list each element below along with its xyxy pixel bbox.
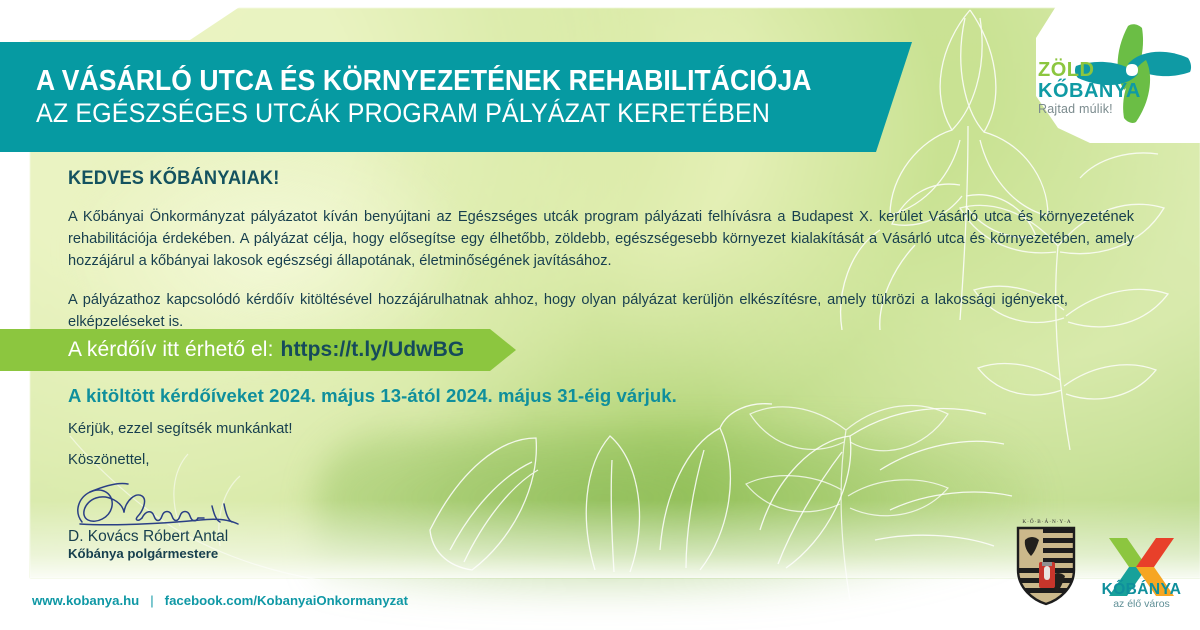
closing-salutation: Köszönettel, — [68, 452, 149, 468]
poster-canvas: A VÁSÁRLÓ UTCA ÉS KÖRNYEZETÉNEK REHABILI… — [0, 0, 1200, 630]
bottom-logo-group: K·Ő·B·Á·N·Y·A — [1015, 520, 1190, 612]
questionnaire-link[interactable]: https://t.ly/UdwBG — [281, 338, 465, 362]
salutation: KEDVES KŐBÁNYAIAK! — [68, 168, 1095, 190]
paragraph-2: A pályázathoz kapcsolódó kérdőív kitölté… — [68, 289, 1068, 333]
url-banner-label: A kérdőív itt érhető el: — [68, 338, 274, 362]
city-logo-tagline: az élő város — [1093, 598, 1190, 610]
brand-logo-text: ZÖLD KŐBÁNYA Rajtad múlik! — [1038, 60, 1141, 116]
page-title: A VÁSÁRLÓ UTCA ÉS KÖRNYEZETÉNEK REHABILI… — [36, 67, 851, 97]
signer-name: D. Kovács Róbert Antal — [68, 528, 228, 546]
brand-logo-tagline: Rajtad múlik! — [1038, 103, 1141, 116]
page-subtitle: AZ EGÉSZSÉGES UTCÁK PROGRAM PÁLYÁZAT KER… — [36, 99, 851, 127]
footer-links: www.kobanya.hu | facebook.com/KobanyaiOn… — [32, 593, 408, 608]
facebook-link[interactable]: facebook.com/KobanyaiOnkormanyzat — [165, 593, 408, 608]
brand-logo-line2: KŐBÁNYA — [1038, 81, 1141, 101]
city-logo-name: KŐBÁNYA — [1093, 582, 1190, 598]
signature-image — [70, 478, 260, 528]
brand-logo-line1: ZÖLD — [1038, 59, 1094, 81]
letter-body: KEDVES KŐBÁNYAIAK! A Kőbányai Önkormányz… — [68, 168, 1138, 349]
kobanya-coat-of-arms-icon — [1015, 520, 1077, 606]
paragraph-1: A Kőbányai Önkormányzat pályázatot kíván… — [68, 206, 1134, 273]
signer-role: Kőbánya polgármestere — [68, 546, 218, 561]
header-band: A VÁSÁRLÓ UTCA ÉS KÖRNYEZETÉNEK REHABILI… — [0, 42, 912, 152]
ask-line: Kérjük, ezzel segítsék munkánkat! — [68, 421, 293, 437]
deadline-text: A kitöltött kérdőíveket 2024. május 13-á… — [68, 385, 677, 407]
website-link[interactable]: www.kobanya.hu — [32, 593, 139, 608]
footer-separator: | — [150, 593, 153, 608]
questionnaire-url-banner[interactable]: A kérdőív itt érhető el: https://t.ly/Ud… — [0, 329, 516, 371]
